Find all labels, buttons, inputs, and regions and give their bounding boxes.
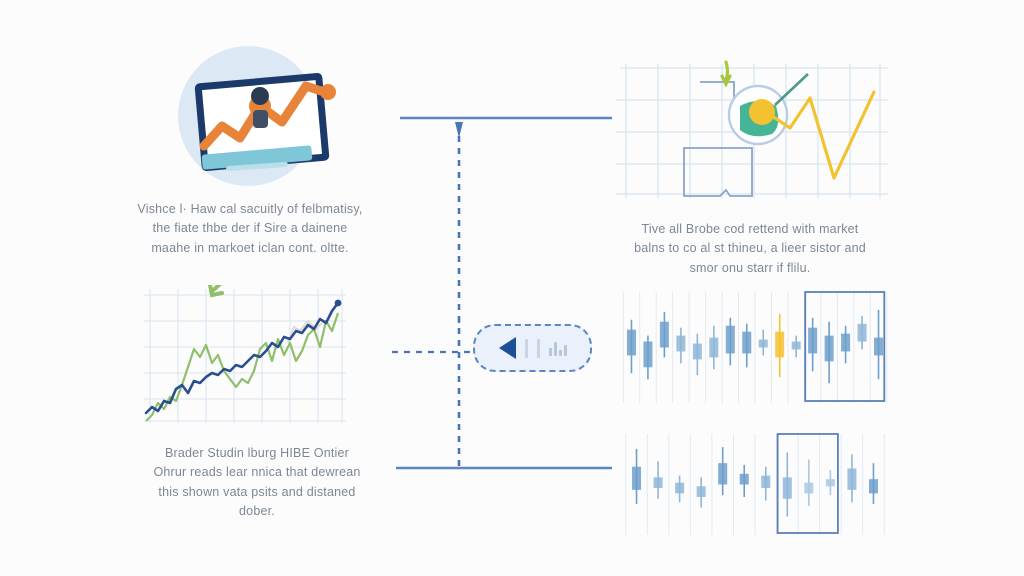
chart-grid [144, 289, 346, 423]
candlestick [726, 318, 735, 366]
monitor-trend-line-icon [198, 72, 338, 158]
caption-line: this shown vata psits and distaned [112, 483, 402, 502]
candlestick [693, 334, 702, 376]
growth-line-chart [140, 285, 350, 425]
caption-line: balns to co al st thineu, a lieer sistor… [600, 239, 900, 258]
caption-line: the fiate thbe der if Sire a dainene [104, 219, 396, 238]
candlestick [660, 312, 669, 358]
series-endpoint-marker [335, 300, 342, 307]
caption-line: Vishce l· Haw cal sacuitly of felbmatisy… [104, 200, 396, 219]
magnifier-dot [749, 99, 775, 125]
candlestick [742, 324, 751, 368]
selection-rect-lower [684, 148, 752, 196]
candlestick [826, 470, 835, 495]
candlestick [783, 452, 792, 516]
zigzag-series [772, 92, 874, 178]
caption-line: smor onu starr if flilu. [600, 259, 900, 278]
candlestick [676, 328, 685, 364]
detail-zoom-chart [612, 60, 892, 200]
pause-icon[interactable] [525, 339, 528, 358]
candlestick [858, 316, 867, 350]
caption-line: Brader Studin lburg HIBE Ontier [112, 444, 402, 463]
candlestick [808, 318, 817, 371]
candlestick [874, 310, 883, 379]
candlestick-upper-chart [615, 290, 895, 405]
caption-line: Tive all Brobe cod rettend with market [600, 220, 900, 239]
caption-line: dober. [112, 502, 402, 521]
candlestick [825, 322, 834, 383]
candlestick [869, 463, 878, 504]
caption-bottom-left: Brader Studin lburg HIBE Ontier Ohrur re… [112, 444, 402, 522]
candlestick [841, 326, 850, 364]
candlestick [759, 330, 768, 356]
candlestick [654, 461, 663, 498]
caption-top-left: Vishce l· Haw cal sacuitly of felbmatisy… [104, 200, 396, 258]
candlestick [675, 476, 684, 503]
infographic-canvas: Vishce l· Haw cal sacuitly of felbmatisy… [0, 0, 1024, 576]
candlestick-lower-chart [615, 432, 895, 537]
candlestick [775, 314, 784, 377]
primary-trend-series [146, 303, 338, 413]
down-arrow-annotation-icon [722, 62, 730, 84]
bar-chart-icon[interactable] [549, 340, 567, 356]
candlestick [847, 454, 856, 502]
candlestick [792, 336, 801, 358]
candlestick [709, 326, 718, 370]
candlestick [718, 447, 727, 495]
connector-arrowhead-icon [455, 122, 463, 138]
triangle-left-icon[interactable] [499, 337, 516, 359]
candlestick [643, 336, 652, 380]
caption-top-right: Tive all Brobe cod rettend with market b… [600, 220, 900, 278]
pause-icon[interactable] [537, 339, 540, 358]
caption-line: maahe in markoet iclan cont. oltte. [104, 239, 396, 258]
monitor-illustration [160, 42, 350, 192]
caption-line: Ohrur reads lear nnica that dewrean [112, 463, 402, 482]
playback-control[interactable] [473, 324, 592, 372]
candlestick [761, 467, 770, 501]
down-left-arrow-annotation-icon [210, 285, 226, 295]
candlestick [804, 460, 813, 506]
candlestick [632, 449, 641, 504]
candlestick [697, 477, 706, 507]
chart-grid [626, 434, 884, 535]
candlestick [740, 465, 749, 497]
candlestick [627, 320, 636, 373]
